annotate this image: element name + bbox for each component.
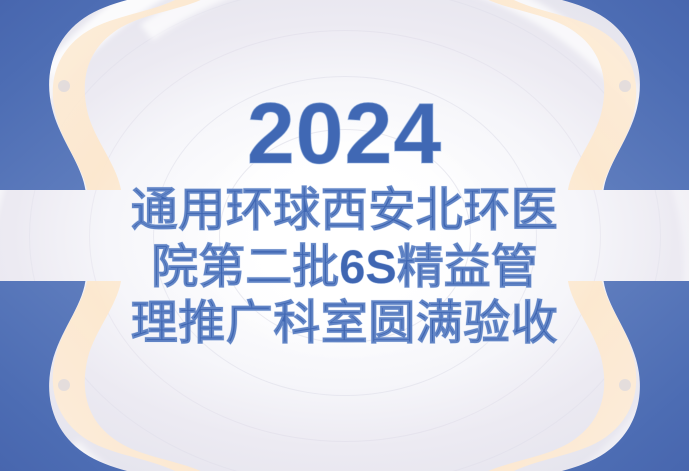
poster-text-block: 2024 通用环球西安北环医 院第二批6S精益管 理推广科室圆满验收 xyxy=(0,0,689,471)
poster-year: 2024 xyxy=(247,92,442,176)
poster-headline-line-3: 理推广科室圆满验收 xyxy=(131,295,559,351)
poster-headline-line-1: 通用环球西安北环医 xyxy=(131,182,559,238)
poster-headline-line-2: 院第二批6S精益管 xyxy=(151,239,538,295)
poster-canvas: 2024 通用环球西安北环医 院第二批6S精益管 理推广科室圆满验收 xyxy=(0,0,689,471)
